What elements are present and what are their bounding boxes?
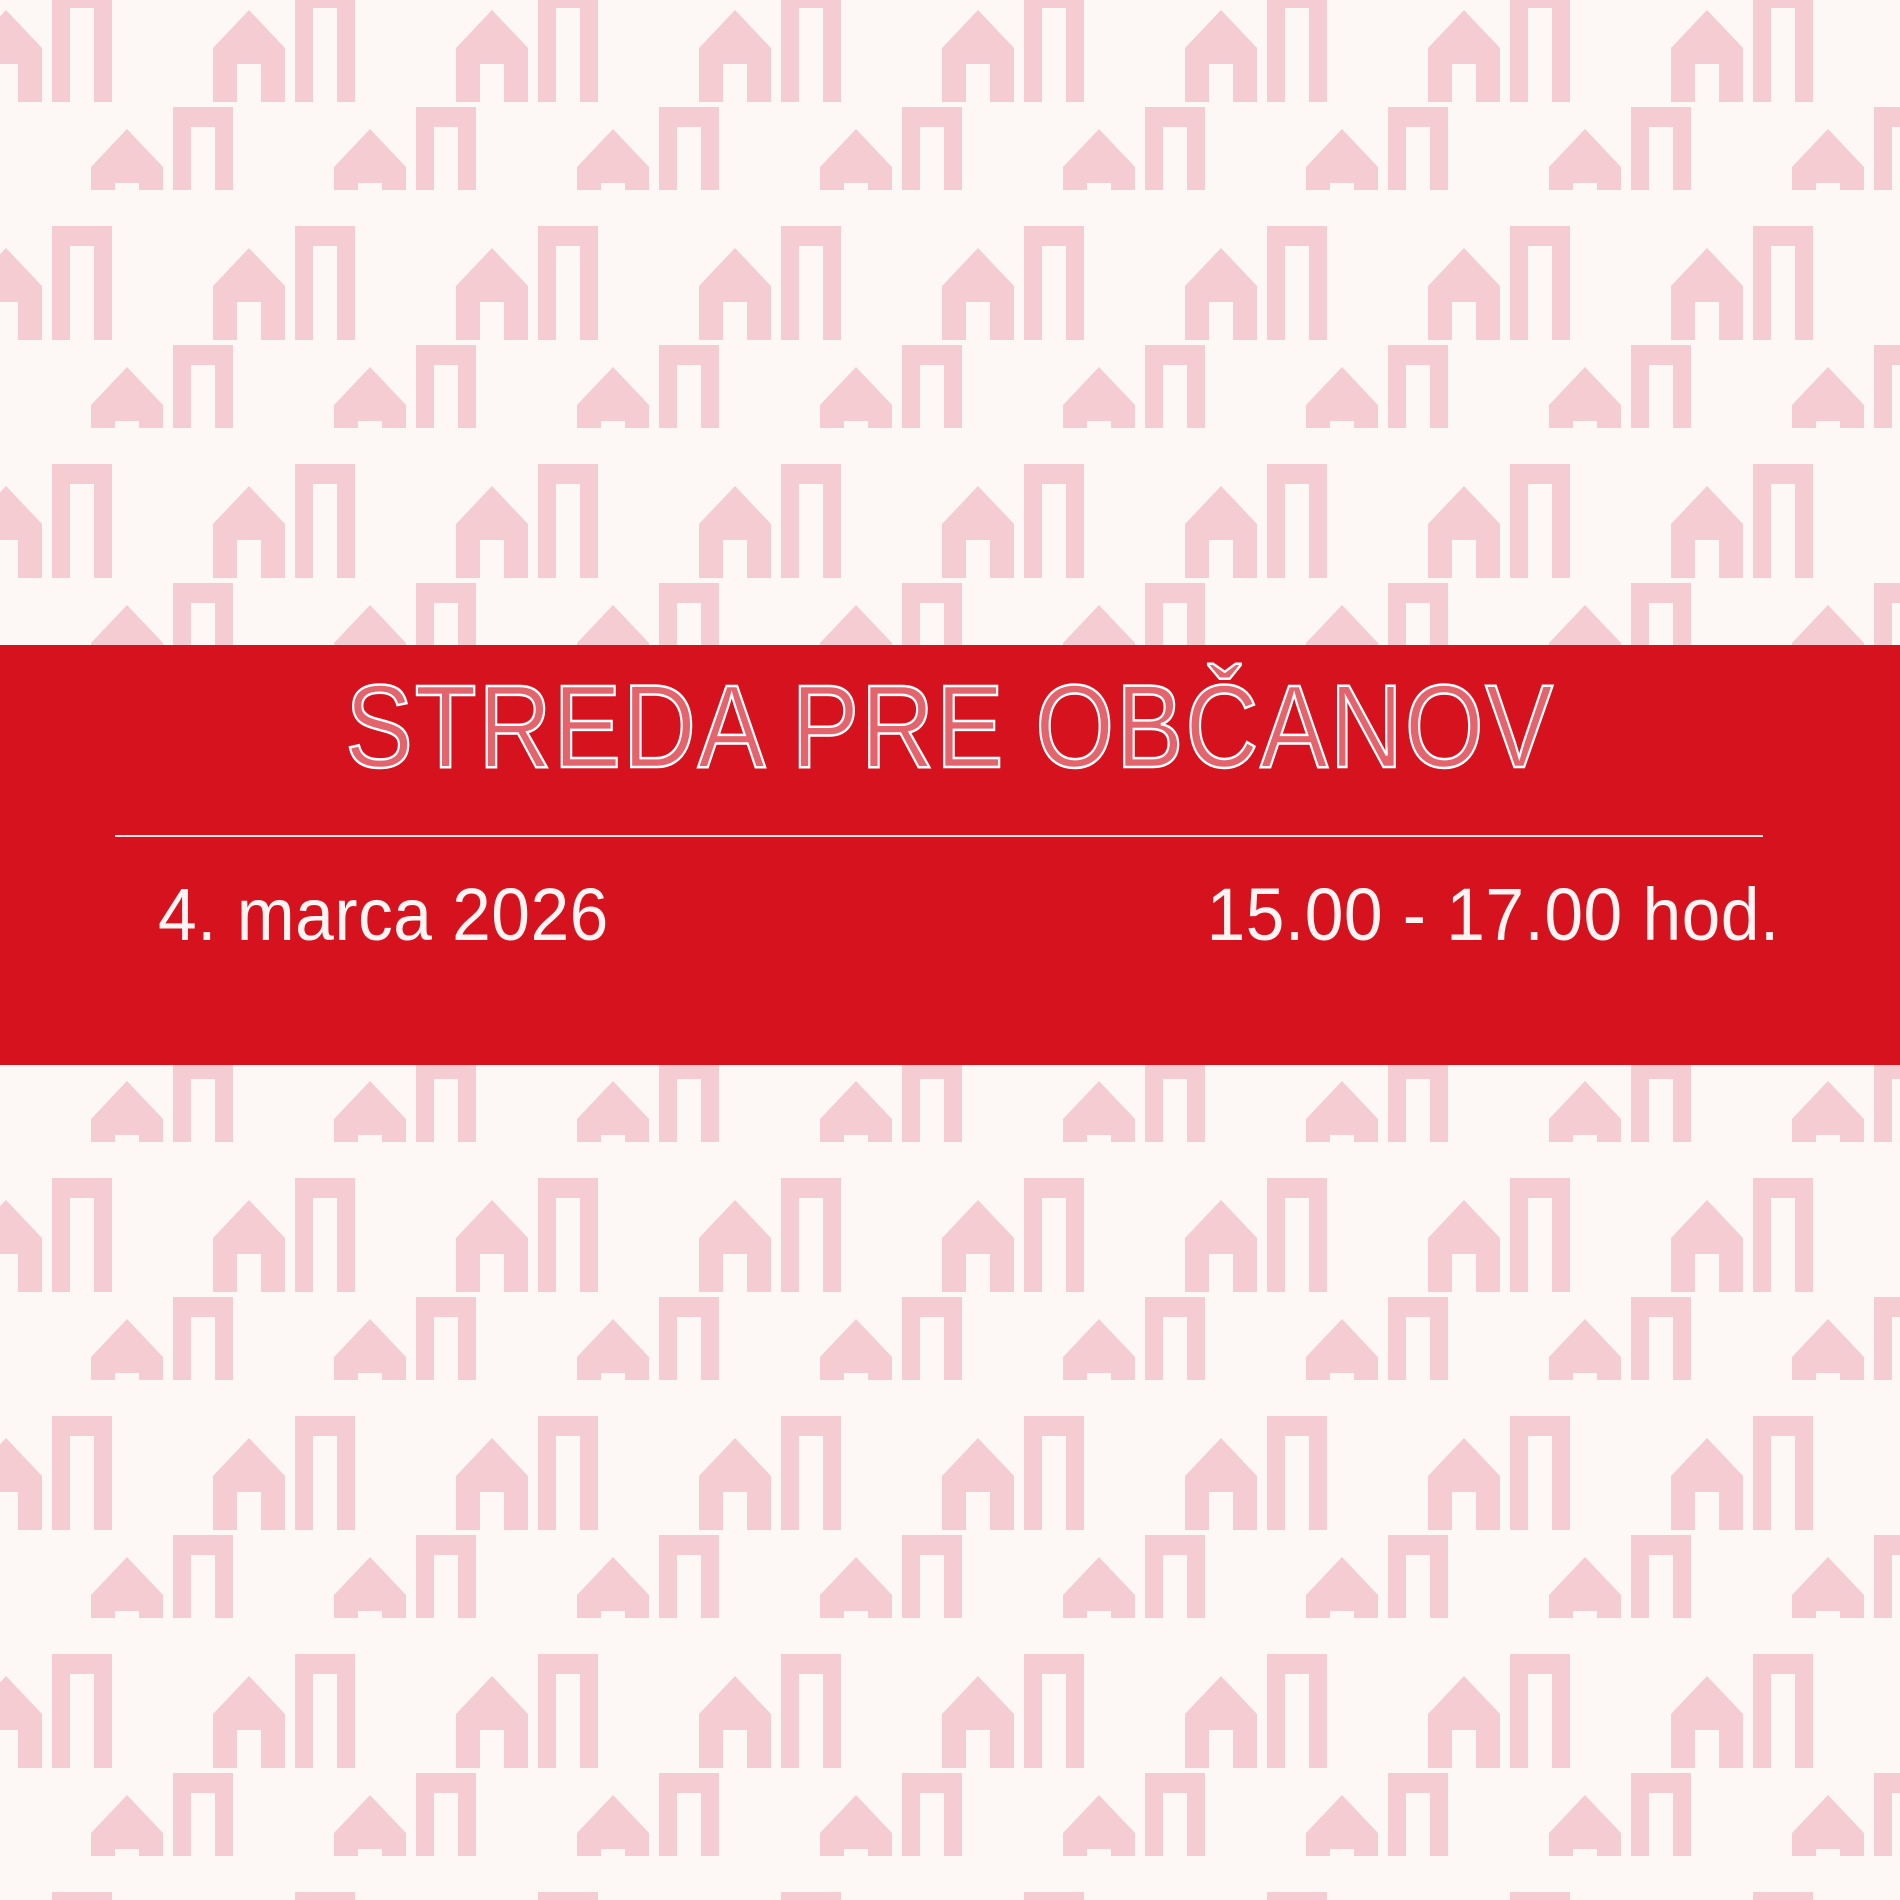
event-date: 4. marca 2026 bbox=[158, 871, 609, 958]
event-banner-content: STREDA PRE OBČANOV 4. marca 2026 15.00 -… bbox=[0, 645, 1900, 1065]
event-meta-row: 4. marca 2026 15.00 - 17.00 hod. bbox=[0, 871, 1900, 991]
title-divider-rule bbox=[115, 835, 1763, 837]
event-banner: STREDA PRE OBČANOV 4. marca 2026 15.00 -… bbox=[0, 645, 1900, 1065]
event-time: 15.00 - 17.00 hod. bbox=[1207, 871, 1780, 958]
poster-canvas: STREDA PRE OBČANOV 4. marca 2026 15.00 -… bbox=[0, 0, 1900, 1900]
event-title: STREDA PRE OBČANOV bbox=[133, 663, 1767, 793]
